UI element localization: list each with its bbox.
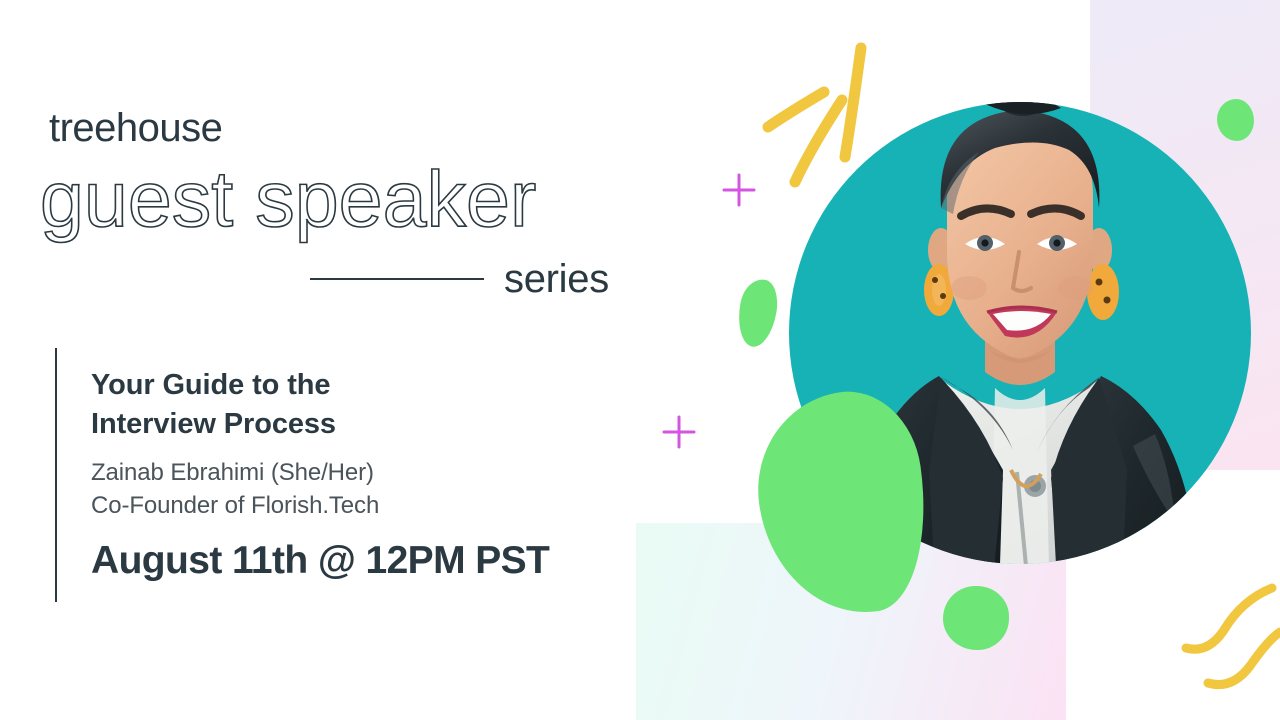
speaker-name: Zainab Ebrahimi (She/Her) bbox=[91, 456, 631, 489]
pink-cross-icon-lower bbox=[664, 417, 694, 447]
pink-cross-icon-upper bbox=[724, 175, 754, 205]
headline-guest-speaker: guest speaker bbox=[40, 158, 536, 241]
detail-vertical-rule bbox=[55, 348, 57, 602]
event-details: Your Guide to the Interview Process Zain… bbox=[91, 366, 631, 583]
slide-canvas: treehouse guest speaker series Your Guid… bbox=[0, 0, 1280, 720]
talk-title: Your Guide to the Interview Process bbox=[91, 366, 631, 444]
green-blob-dot-bottom bbox=[943, 586, 1009, 650]
series-row: series bbox=[310, 255, 630, 303]
series-label: series bbox=[504, 259, 609, 299]
treehouse-wordmark: treehouse bbox=[49, 108, 222, 148]
green-blob-small-left bbox=[733, 276, 781, 349]
event-datetime: August 11th @ 12PM PST bbox=[91, 540, 631, 583]
speaker-role: Co-Founder of Florish.Tech bbox=[91, 489, 631, 522]
series-divider-rule bbox=[310, 278, 484, 280]
